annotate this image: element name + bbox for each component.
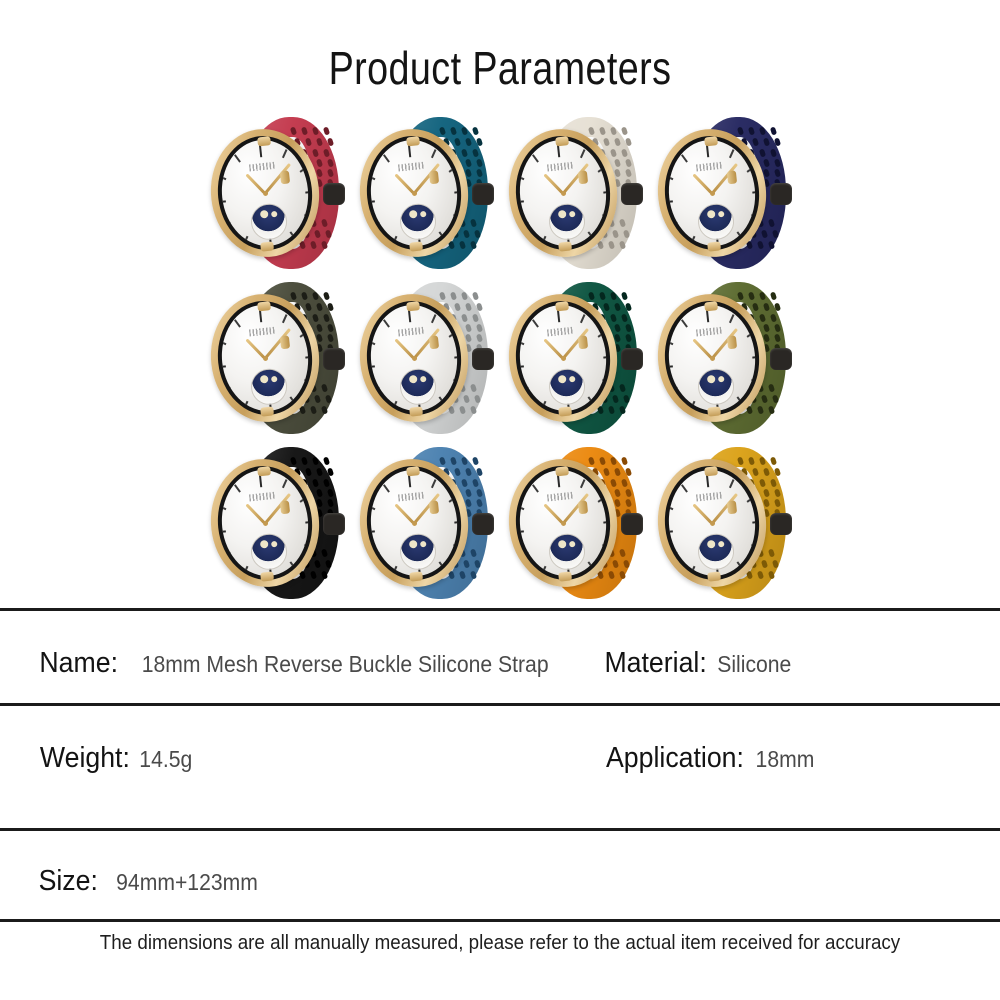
dial-tick: [532, 154, 539, 162]
watch-bezel: [659, 461, 764, 584]
dial-tick: [431, 149, 436, 158]
dial-tick: [454, 543, 463, 548]
dial-tick: [663, 199, 672, 203]
watch-crown: [429, 170, 439, 184]
hand-pin: [560, 520, 565, 525]
watch-crown: [429, 335, 439, 349]
watch-bezel: [213, 296, 318, 419]
watch-bezel: [510, 461, 615, 584]
field-material: Material: Silicone: [600, 647, 795, 680]
dial-tick: [746, 330, 754, 337]
dial-tick: [557, 475, 561, 487]
strap-buckle: [621, 513, 643, 535]
watch-light-grey: [354, 280, 502, 436]
watch-dial: [663, 135, 760, 249]
strap-buckle: [770, 183, 792, 205]
field-name: Name: 18mm Mesh Reverse Buckle Silicone …: [36, 647, 567, 680]
measurement-disclaimer: The dimensions are all manually measured…: [30, 932, 970, 955]
watch-bezel: [361, 131, 466, 254]
dial-tick: [752, 190, 760, 194]
strap-buckle: [770, 348, 792, 370]
dial-tick: [235, 319, 242, 327]
dial-tick: [746, 495, 754, 502]
moon-glyph-icon: [409, 539, 418, 548]
dial-tick: [454, 520, 462, 524]
dial-tick: [670, 386, 678, 393]
strap-hole: [621, 291, 628, 300]
watch-bezel: [659, 296, 764, 419]
dial-tick: [521, 386, 529, 393]
dial-tick: [449, 165, 457, 172]
dial-tick: [664, 175, 673, 180]
field-application-value: 18mm: [755, 746, 814, 773]
field-weight: Weight: 14.5g: [36, 742, 194, 775]
moon-glyph-icon: [260, 209, 269, 218]
dial-tick: [602, 213, 611, 218]
dial-tick: [259, 145, 263, 157]
watch-red: [205, 115, 353, 271]
watch-dark-olive: [205, 280, 353, 436]
dial-tick: [367, 340, 376, 345]
watch-dial: [366, 300, 463, 414]
watch-bezel: [361, 461, 466, 584]
watch-bezel: [213, 131, 318, 254]
dial-tick: [681, 154, 688, 162]
dial-tick: [705, 475, 709, 487]
hand-pin: [263, 520, 268, 525]
strap-hole: [472, 126, 479, 135]
dial-tick: [372, 386, 380, 393]
dial-tick: [235, 484, 242, 492]
hand-pin: [411, 355, 416, 360]
dial-tick: [588, 231, 595, 239]
dial-tick: [588, 396, 595, 404]
strap-buckle: [621, 183, 643, 205]
dial-tick: [372, 221, 380, 228]
strap-hole: [323, 126, 330, 135]
dial-tick: [283, 314, 288, 323]
dial-tick: [366, 364, 375, 368]
moon-glyph-icon: [260, 374, 269, 383]
dial-tick: [431, 314, 436, 323]
dial-tick: [367, 175, 376, 180]
watch-color-item[interactable]: [503, 440, 652, 605]
watch-crown: [578, 500, 588, 514]
dial-tick: [541, 400, 546, 409]
strap-hole: [472, 456, 479, 465]
watch-dial: [663, 465, 760, 579]
dial-tick: [690, 235, 695, 244]
spec-row-size: Size: 94mm+123mm: [0, 831, 1000, 919]
table-rule-bottom: [0, 919, 1000, 922]
dial-tick: [393, 235, 398, 244]
dial-tick: [217, 364, 226, 368]
dial-tick: [244, 400, 249, 409]
dial-tick: [449, 495, 457, 502]
spec-row-name: Name: 18mm Mesh Reverse Buckle Silicone …: [0, 611, 1000, 703]
moon-glyph-icon: [706, 374, 715, 383]
watch-lug-bottom: [261, 241, 275, 251]
dial-tick: [751, 213, 760, 218]
dial-tick: [515, 175, 524, 180]
watch-bezel: [510, 296, 615, 419]
watch-color-item[interactable]: [205, 275, 354, 440]
dial-tick: [681, 484, 688, 492]
watch-color-item[interactable]: [205, 440, 354, 605]
watch-color-item[interactable]: [503, 110, 652, 275]
hand-pin: [411, 190, 416, 195]
dial-tick: [408, 475, 412, 487]
watch-crown: [578, 335, 588, 349]
strap-buckle: [472, 183, 494, 205]
dial-tick: [366, 199, 375, 203]
dial-tick: [598, 330, 606, 337]
watch-color-item[interactable]: [354, 110, 503, 275]
watch-lug-top: [258, 301, 272, 311]
field-weight-label: Weight:: [40, 742, 130, 775]
dial-tick: [515, 340, 524, 345]
dial-tick: [223, 221, 231, 228]
strap-buckle: [472, 348, 494, 370]
dial-tick: [670, 551, 678, 558]
watch-crown: [726, 335, 736, 349]
watch-lug-bottom: [558, 406, 572, 416]
watch-dial: [217, 135, 314, 249]
dial-tick: [752, 520, 760, 524]
dial-tick: [439, 231, 446, 239]
watch-lug-top: [406, 466, 420, 476]
dial-tick: [408, 310, 412, 322]
dial-tick: [283, 149, 288, 158]
strap-buckle: [770, 513, 792, 535]
dial-tick: [580, 479, 585, 488]
watch-color-item[interactable]: [651, 275, 800, 440]
dial-tick: [521, 221, 529, 228]
dial-tick: [408, 145, 412, 157]
watch-color-item[interactable]: [354, 275, 503, 440]
watch-orange: [503, 445, 651, 601]
watch-lug-bottom: [261, 406, 275, 416]
moon-glyph-icon: [706, 209, 715, 218]
dial-tick: [690, 400, 695, 409]
dial-tick: [729, 314, 734, 323]
strap-hole: [621, 126, 628, 135]
dial-tick: [670, 221, 678, 228]
dial-tick: [244, 565, 249, 574]
watch-lug-bottom: [707, 571, 721, 581]
watch-lug-top: [258, 466, 272, 476]
dial-tick: [383, 484, 390, 492]
watch-navy-blue: [652, 115, 800, 271]
dial-tick: [729, 479, 734, 488]
strap-hole: [770, 456, 777, 465]
hand-pin: [560, 355, 565, 360]
dial-tick: [737, 561, 744, 569]
dial-tick: [218, 340, 227, 345]
watch-dial: [217, 300, 314, 414]
dial-tick: [729, 149, 734, 158]
moon-glyph-icon: [558, 209, 567, 218]
dial-tick: [259, 475, 263, 487]
field-size-value: 94mm+123mm: [117, 869, 259, 896]
dial-tick: [305, 213, 314, 218]
watch-crown: [726, 500, 736, 514]
watch-crown: [280, 500, 290, 514]
dial-tick: [223, 386, 231, 393]
dial-tick: [218, 175, 227, 180]
dial-tick: [383, 319, 390, 327]
field-name-label: Name:: [39, 647, 118, 680]
dial-tick: [393, 565, 398, 574]
strap-buckle: [323, 183, 345, 205]
dial-tick: [454, 190, 462, 194]
watch-color-item[interactable]: [503, 275, 652, 440]
dial-tick: [439, 561, 446, 569]
dial-tick: [515, 364, 524, 368]
dial-tick: [557, 310, 561, 322]
dial-tick: [454, 355, 462, 359]
watch-lug-top: [704, 301, 718, 311]
watch-black: [205, 445, 353, 601]
dial-tick: [580, 314, 585, 323]
watch-lug-top: [704, 136, 718, 146]
dial-tick: [305, 355, 313, 359]
watch-dial: [515, 300, 612, 414]
watch-crown: [280, 170, 290, 184]
dial-tick: [454, 213, 463, 218]
dial-tick: [751, 543, 760, 548]
strap-buckle: [323, 348, 345, 370]
watch-color-item[interactable]: [651, 440, 800, 605]
dial-tick: [393, 400, 398, 409]
dial-tick: [663, 529, 672, 533]
strap-buckle: [472, 513, 494, 535]
strap-buckle: [323, 513, 345, 535]
specification-table: Name: 18mm Mesh Reverse Buckle Silicone …: [0, 608, 1000, 922]
dial-tick: [603, 355, 611, 359]
dial-tick: [218, 505, 227, 510]
watch-crown: [726, 170, 736, 184]
watch-bezel: [361, 296, 466, 419]
watch-crown: [578, 170, 588, 184]
field-name-value: 18mm Mesh Reverse Buckle Silicone Strap: [142, 651, 549, 678]
dial-tick: [588, 561, 595, 569]
watch-lug-bottom: [409, 571, 423, 581]
moon-glyph-icon: [558, 374, 567, 383]
page-title: Product Parameters: [90, 40, 910, 96]
watch-bezel: [659, 131, 764, 254]
watch-lug-bottom: [707, 406, 721, 416]
dial-tick: [305, 520, 313, 524]
watch-mustard: [652, 445, 800, 601]
strap-hole: [770, 126, 777, 135]
field-size: Size: 94mm+123mm: [36, 865, 265, 898]
dial-tick: [737, 396, 744, 404]
strap-hole: [472, 291, 479, 300]
watch-color-item[interactable]: [205, 110, 354, 275]
dial-tick: [532, 319, 539, 327]
moon-glyph-icon: [409, 209, 418, 218]
moon-glyph-icon: [260, 539, 269, 548]
dial-tick: [705, 145, 709, 157]
watch-dial: [366, 465, 463, 579]
dial-tick: [746, 165, 754, 172]
dial-tick: [366, 529, 375, 533]
dial-tick: [602, 543, 611, 548]
dial-tick: [752, 355, 760, 359]
dial-tick: [541, 565, 546, 574]
dial-tick: [290, 231, 297, 239]
dial-tick: [557, 145, 561, 157]
strap-hole: [323, 456, 330, 465]
dial-tick: [664, 505, 673, 510]
field-application: Application: 18mm: [600, 742, 817, 775]
watch-lug-bottom: [409, 406, 423, 416]
dial-tick: [521, 551, 529, 558]
dial-tick: [598, 165, 606, 172]
dial-tick: [515, 505, 524, 510]
moon-glyph-icon: [409, 374, 418, 383]
watch-cream: [503, 115, 651, 271]
dial-tick: [705, 310, 709, 322]
dial-tick: [751, 378, 760, 383]
watch-lug-top: [555, 466, 569, 476]
watch-color-gallery: [205, 110, 800, 605]
watch-lug-top: [258, 136, 272, 146]
dial-tick: [217, 199, 226, 203]
watch-dial: [515, 135, 612, 249]
field-application-label: Application:: [606, 742, 744, 775]
strap-hole: [323, 291, 330, 300]
watch-crown: [429, 500, 439, 514]
field-weight-value: 14.5g: [139, 746, 192, 773]
watch-lug-bottom: [558, 241, 572, 251]
dial-tick: [663, 364, 672, 368]
dial-tick: [431, 479, 436, 488]
watch-forest-green: [503, 280, 651, 436]
dial-tick: [300, 330, 308, 337]
dial-tick: [737, 231, 744, 239]
watch-army-green: [652, 280, 800, 436]
field-size-label: Size:: [39, 865, 98, 898]
dial-tick: [603, 190, 611, 194]
watch-color-item[interactable]: [354, 440, 503, 605]
watch-dial: [366, 135, 463, 249]
dial-tick: [664, 340, 673, 345]
watch-dial: [515, 465, 612, 579]
watch-lug-top: [406, 136, 420, 146]
watch-lug-top: [555, 136, 569, 146]
dial-tick: [290, 561, 297, 569]
dial-tick: [681, 319, 688, 327]
hand-pin: [263, 355, 268, 360]
watch-steel-blue: [354, 445, 502, 601]
moon-glyph-icon: [706, 539, 715, 548]
dial-tick: [223, 551, 231, 558]
hand-pin: [560, 190, 565, 195]
dial-tick: [690, 565, 695, 574]
watch-lug-top: [555, 301, 569, 311]
dial-tick: [515, 199, 524, 203]
dial-tick: [305, 378, 314, 383]
dial-tick: [541, 235, 546, 244]
watch-lug-bottom: [261, 571, 275, 581]
field-material-label: Material:: [604, 647, 706, 680]
watch-lug-bottom: [707, 241, 721, 251]
dial-tick: [372, 551, 380, 558]
hand-pin: [411, 520, 416, 525]
dial-tick: [244, 235, 249, 244]
watch-lug-bottom: [558, 571, 572, 581]
dial-tick: [603, 520, 611, 524]
dial-tick: [383, 154, 390, 162]
dial-tick: [515, 529, 524, 533]
dial-tick: [217, 529, 226, 533]
watch-teal: [354, 115, 502, 271]
watch-color-item[interactable]: [651, 110, 800, 275]
strap-hole: [770, 291, 777, 300]
dial-tick: [290, 396, 297, 404]
dial-tick: [580, 149, 585, 158]
dial-tick: [259, 310, 263, 322]
watch-lug-top: [704, 466, 718, 476]
moon-glyph-icon: [558, 539, 567, 548]
dial-tick: [283, 479, 288, 488]
strap-buckle: [621, 348, 643, 370]
watch-lug-top: [406, 301, 420, 311]
dial-tick: [305, 543, 314, 548]
dial-tick: [602, 378, 611, 383]
hand-pin: [263, 190, 268, 195]
dial-tick: [367, 505, 376, 510]
watch-bezel: [510, 131, 615, 254]
watch-dial: [217, 465, 314, 579]
watch-lug-bottom: [409, 241, 423, 251]
dial-tick: [532, 484, 539, 492]
spec-row-weight: Weight: 14.5g Application: 18mm: [0, 706, 1000, 828]
watch-bezel: [213, 461, 318, 584]
watch-dial: [663, 300, 760, 414]
watch-crown: [280, 335, 290, 349]
dial-tick: [305, 190, 313, 194]
field-material-value: Silicone: [717, 651, 791, 678]
dial-tick: [439, 396, 446, 404]
dial-tick: [598, 495, 606, 502]
dial-tick: [235, 154, 242, 162]
dial-tick: [449, 330, 457, 337]
dial-tick: [300, 165, 308, 172]
dial-tick: [454, 378, 463, 383]
dial-tick: [300, 495, 308, 502]
strap-hole: [621, 456, 628, 465]
